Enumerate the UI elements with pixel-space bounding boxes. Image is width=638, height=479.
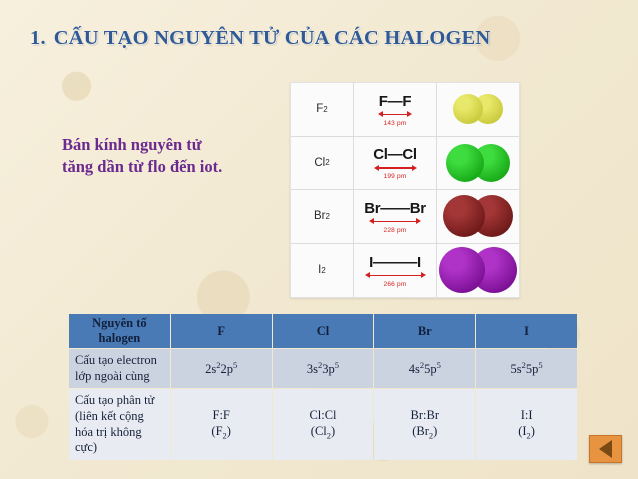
halogen-molecule-figure: F2F—F143 pmCl2Cl—Cl199 pmBr2Br——Br228 pm… [290,82,520,298]
diatomic-molecule-render [443,195,514,237]
arrow-head-right-icon [412,165,417,171]
table-data-cell: 2s22p5 [171,349,272,388]
header-cell-cl: Cl [273,314,374,348]
title-number: 1. [30,27,46,49]
distance-arrow [374,164,417,172]
atom-sphere [446,144,484,182]
figure-row: F2F—F143 pm [291,83,519,137]
figure-row: Br2Br——Br228 pm [291,190,519,244]
space-filling-model [437,244,519,298]
atom-sphere [443,195,485,237]
table-data-cell: I:I(I2) [476,389,577,460]
space-filling-model [437,137,519,190]
arrow-line [378,167,413,169]
bond-structure-label: F—F [379,94,411,109]
table-data-cell: Br:Br(Br2) [374,389,475,460]
diatomic-molecule-render [446,144,510,182]
molecule-formula-label: Br2 [291,190,354,243]
bond-distance-value: 228 pm [384,227,407,234]
bond-distance-value: 266 pm [384,281,407,288]
atom-sphere [453,94,483,124]
bond-length-diagram: Cl—Cl199 pm [354,137,437,190]
table-header-row: Nguyên tố halogen F Cl Br I [69,314,577,348]
arrow-line [382,114,408,116]
caption-line-1: Bán kính nguyên tử [62,134,292,156]
molecule-formula-label: Cl2 [291,137,354,190]
figure-row: I2I———I266 pm [291,244,519,298]
molecule-formula-label: F2 [291,83,354,136]
bond-length-diagram: F—F143 pm [354,83,437,136]
distance-arrow [369,218,421,226]
bond-structure-label: I———I [369,255,421,270]
row-label-cell: Cấu tạo phân tử (liên kết cộng hóa trị k… [69,389,170,460]
table-data-cell: 3s23p5 [273,349,374,388]
back-navigation-button[interactable] [589,435,622,463]
distance-arrow [365,272,426,280]
diatomic-molecule-render [439,247,517,293]
distance-arrow [378,111,412,119]
table-data-cell: 4s25p5 [374,349,475,388]
slide-canvas: 1.CẤU TẠO NGUYÊN TỬ CỦA CÁC HALOGEN Bán … [0,0,638,479]
space-filling-model [437,83,519,136]
back-arrow-icon [599,440,612,458]
bond-structure-label: Br——Br [364,201,426,216]
header-cell-i: I [476,314,577,348]
caption-line-2: tăng dần từ flo đến iot. [62,156,292,178]
diatomic-molecule-render [453,94,504,124]
bond-structure-label: Cl—Cl [373,147,417,162]
bond-length-diagram: Br——Br228 pm [354,190,437,243]
header-cell-br: Br [374,314,475,348]
row-label-cell: Cấu tạo electron lớp ngoài cùng [69,349,170,388]
table-data-cell: 5s25p5 [476,349,577,388]
arrow-head-right-icon [416,218,421,224]
arrow-line [369,275,422,277]
molecule-formula-label: I2 [291,244,354,298]
halogen-properties-table: Nguyên tố halogen F Cl Br I Cấu tạo elec… [68,313,578,461]
arrow-head-right-icon [407,111,412,117]
page-title: 1.CẤU TẠO NGUYÊN TỬ CỦA CÁC HALOGEN [30,27,491,50]
arrow-line [373,221,417,223]
radius-caption: Bán kính nguyên tử tăng dần từ flo đến i… [62,134,292,178]
figure-row: Cl2Cl—Cl199 pm [291,137,519,191]
bond-length-diagram: I———I266 pm [354,244,437,298]
arrow-head-right-icon [421,272,426,278]
table-row: Cấu tạo electron lớp ngoài cùng2s22p53s2… [69,349,577,388]
space-filling-model [437,190,519,243]
table-row: Cấu tạo phân tử (liên kết cộng hóa trị k… [69,389,577,460]
table-data-cell: Cl:Cl(Cl2) [273,389,374,460]
header-cell-f: F [171,314,272,348]
bond-distance-value: 143 pm [384,120,407,127]
table-data-cell: F:F(F2) [171,389,272,460]
header-cell-element: Nguyên tố halogen [69,314,170,348]
bond-distance-value: 199 pm [384,173,407,180]
title-text: CẤU TẠO NGUYÊN TỬ CỦA CÁC HALOGEN [54,27,491,49]
